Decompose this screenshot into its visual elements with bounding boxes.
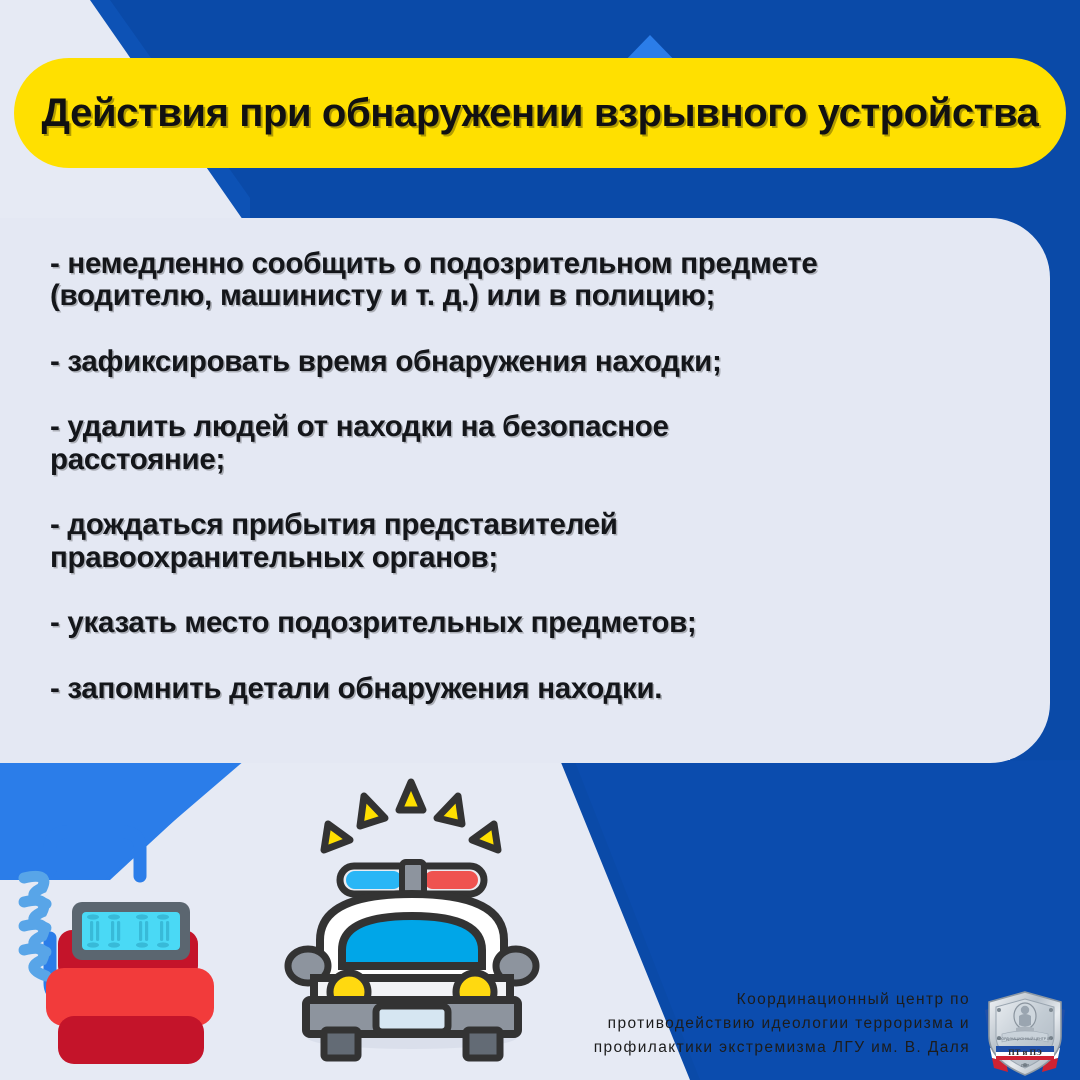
emblem-sub: ЛНР — [1021, 1063, 1030, 1068]
siren-center-block — [402, 862, 424, 894]
emblem-crest — [1014, 1003, 1036, 1033]
emblem-abbrev: ПТ и ПЭ — [1008, 1047, 1042, 1057]
credit-line: Координационный центр по — [470, 988, 970, 1012]
credit-line: профилактики экстремизма ЛГУ им. В. Даля — [470, 1036, 970, 1060]
coordination-center-emblem-icon: КООРДИНАЦИОННЫЙ ЦЕНТР ЛГУ ПТ и ПЭ ЛНР — [982, 988, 1068, 1078]
credit-line: противодействию идеологии терроризма и — [470, 1012, 970, 1036]
footer-credit: Координационный центр по противодействию… — [470, 988, 970, 1060]
list-item: - немедленно сообщить о подозрительном п… — [50, 248, 1050, 313]
emblem-ring-text: КООРДИНАЦИОННЫЙ ЦЕНТР ЛГУ — [997, 1037, 1054, 1041]
title-banner: Действия при обнаружении взрывного устро… — [14, 58, 1066, 168]
list-item: - удалить людей от находки на безопасное… — [50, 411, 1050, 476]
list-item: - зафиксировать время обнаружения находк… — [50, 346, 1050, 378]
list-item: - дождаться прибытия представителей прав… — [50, 509, 1050, 574]
dynamite-bottom — [58, 1016, 204, 1064]
bomb-wire-coil — [24, 876, 46, 976]
instruction-list: - немедленно сообщить о подозрительном п… — [50, 248, 1050, 705]
list-item: - указать место подозрительных предметов… — [50, 607, 1050, 639]
car-license-plate — [376, 1006, 448, 1032]
car-wheel-left — [324, 1030, 358, 1058]
siren-flash-rays — [324, 782, 498, 850]
bomb-with-timer-icon — [2, 818, 257, 1068]
list-item: - запомнить детали обнаружения находки. — [50, 673, 1050, 705]
bomb-wire — [50, 832, 140, 876]
siren-lamp-blue — [346, 871, 402, 889]
infographic-poster: - немедленно сообщить о подозрительном п… — [0, 0, 1080, 1080]
car-windshield — [342, 916, 482, 966]
page-title: Действия при обнаружении взрывного устро… — [42, 91, 1039, 136]
content-card: - немедленно сообщить о подозрительном п… — [0, 218, 1050, 763]
siren-lamp-red — [424, 871, 478, 889]
